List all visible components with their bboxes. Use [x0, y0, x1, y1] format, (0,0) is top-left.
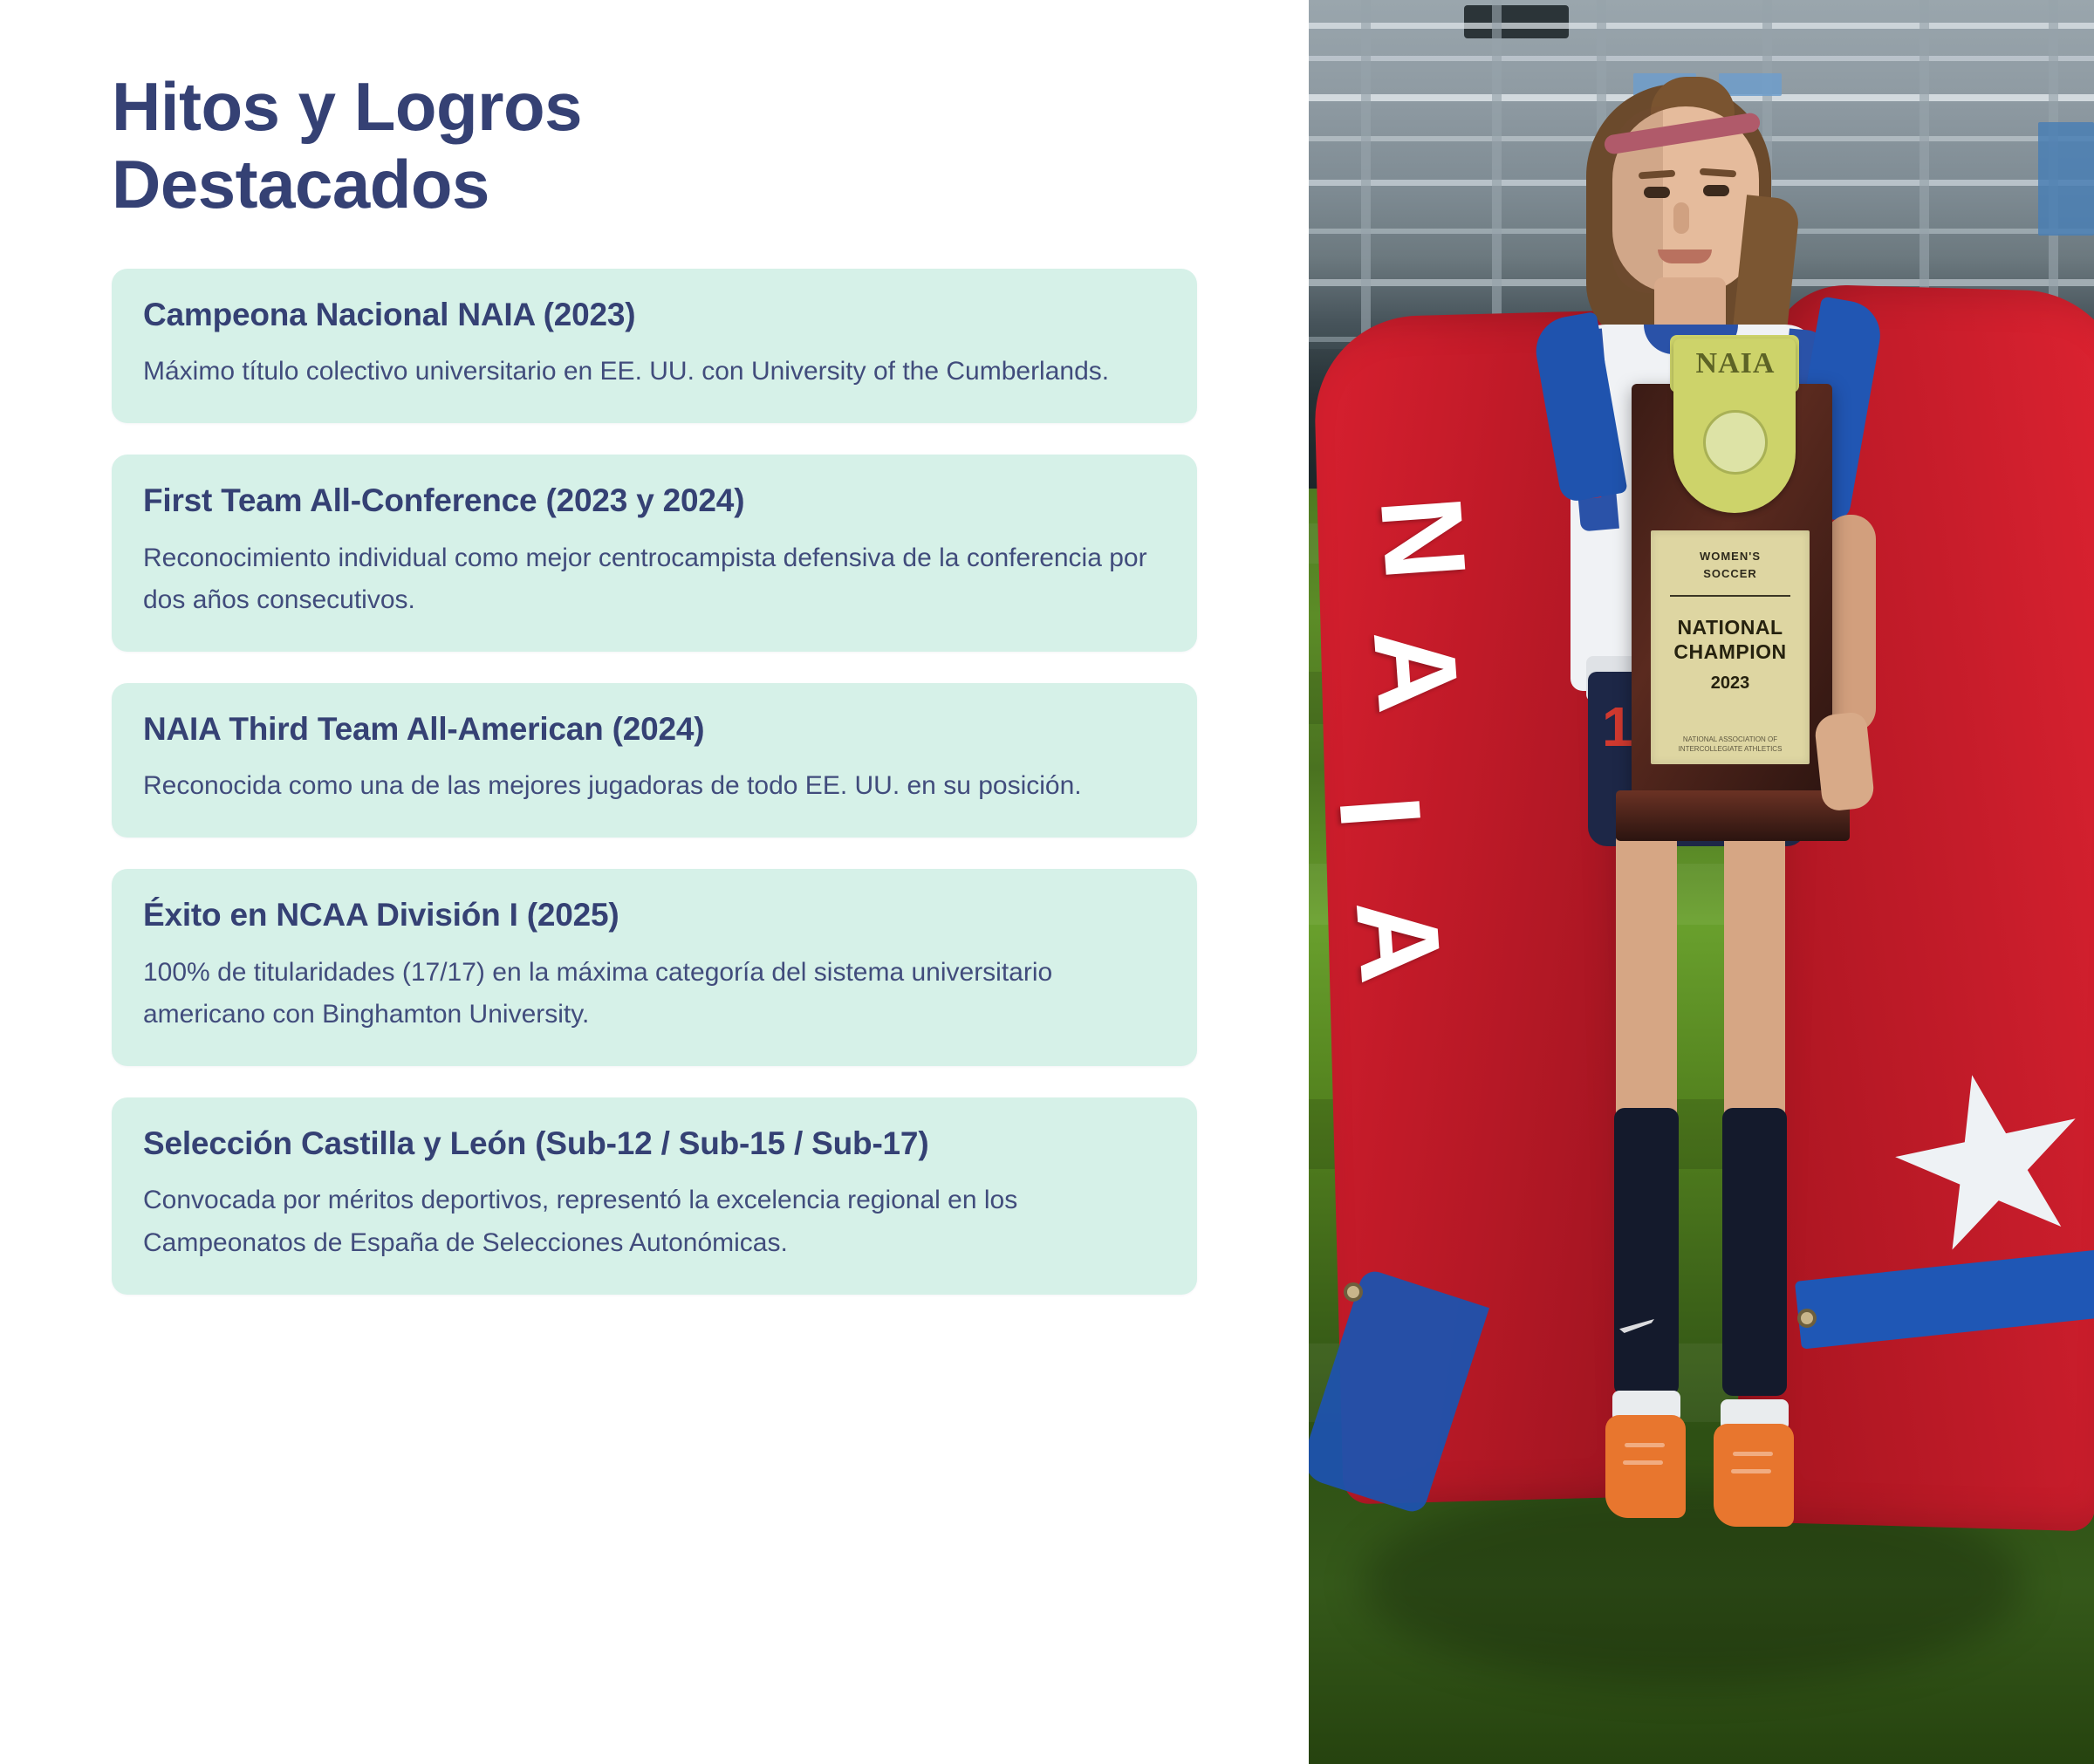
leg — [1724, 829, 1785, 1125]
athlete-figure: N A I A — [1309, 0, 2094, 1764]
plaque-year: 2023 — [1651, 673, 1810, 694]
nose — [1673, 202, 1689, 234]
eye — [1644, 187, 1670, 198]
sock — [1722, 1108, 1787, 1396]
leg — [1616, 829, 1677, 1125]
achievement-card[interactable]: NAIA Third Team All-American (2024) Reco… — [112, 683, 1197, 838]
trophy-base — [1616, 790, 1850, 841]
flag-grommet-icon — [1344, 1282, 1363, 1302]
flag-letter: A — [1338, 896, 1459, 981]
flag-letter: N — [1363, 493, 1483, 578]
mouth — [1658, 250, 1712, 263]
eye — [1703, 185, 1729, 196]
achievement-description: 100% de titularidades (17/17) en la máxi… — [143, 952, 1166, 1036]
boot-lace — [1731, 1469, 1771, 1473]
achievement-card[interactable]: First Team All-Conference (2023 y 2024) … — [112, 455, 1197, 652]
achievement-description: Máximo título colectivo universitario en… — [143, 351, 1166, 393]
achievement-card[interactable]: Selección Castilla y León (Sub-12 / Sub-… — [112, 1097, 1197, 1295]
achievement-title: NAIA Third Team All-American (2024) — [143, 709, 1166, 750]
athlete-photo: N A I A — [1309, 0, 2094, 1764]
achievement-card[interactable]: Éxito en NCAA División I (2025) 100% de … — [112, 869, 1197, 1066]
soccer-boot — [1714, 1424, 1794, 1527]
hand — [1813, 711, 1875, 812]
page-root: Hitos y Logros Destacados Campeona Nacio… — [0, 0, 2094, 1764]
plaque-category: WOMEN'S SOCCER — [1651, 548, 1810, 582]
achievement-title: Éxito en NCAA División I (2025) — [143, 895, 1166, 936]
achievement-description: Reconocida como una de las mejores jugad… — [143, 765, 1166, 808]
naia-emblem-text: NAIA — [1679, 347, 1792, 380]
achievement-card[interactable]: Campeona Nacional NAIA (2023) Máximo tít… — [112, 269, 1197, 423]
plaque-divider — [1670, 595, 1790, 597]
flag-grommet-icon — [1797, 1309, 1817, 1328]
soccer-ball-icon — [1703, 410, 1768, 475]
page-title: Hitos y Logros Destacados — [112, 68, 897, 223]
achievement-title: Campeona Nacional NAIA (2023) — [143, 295, 1166, 336]
achievement-title: First Team All-Conference (2023 y 2024) — [143, 481, 1166, 522]
sock — [1614, 1108, 1679, 1396]
content-column: Hitos y Logros Destacados Campeona Nacio… — [0, 0, 1309, 1764]
boot-lace — [1733, 1452, 1773, 1456]
plaque-footer: NATIONAL ASSOCIATION OF INTERCOLLEGIATE … — [1651, 735, 1810, 754]
achievement-description: Convocada por méritos deportivos, repres… — [143, 1179, 1166, 1264]
achievement-description: Reconocimiento individual como mejor cen… — [143, 537, 1166, 622]
flag-letter: A — [1356, 626, 1476, 711]
soccer-boot — [1605, 1415, 1686, 1518]
boot-lace — [1623, 1460, 1663, 1465]
arm — [1825, 515, 1876, 733]
achievements-list: Campeona Nacional NAIA (2023) Máximo tít… — [112, 269, 1197, 1295]
achievement-title: Selección Castilla y León (Sub-12 / Sub-… — [143, 1124, 1166, 1165]
plaque-title: NATIONAL CHAMPION — [1651, 616, 1810, 664]
boot-lace — [1625, 1443, 1665, 1447]
